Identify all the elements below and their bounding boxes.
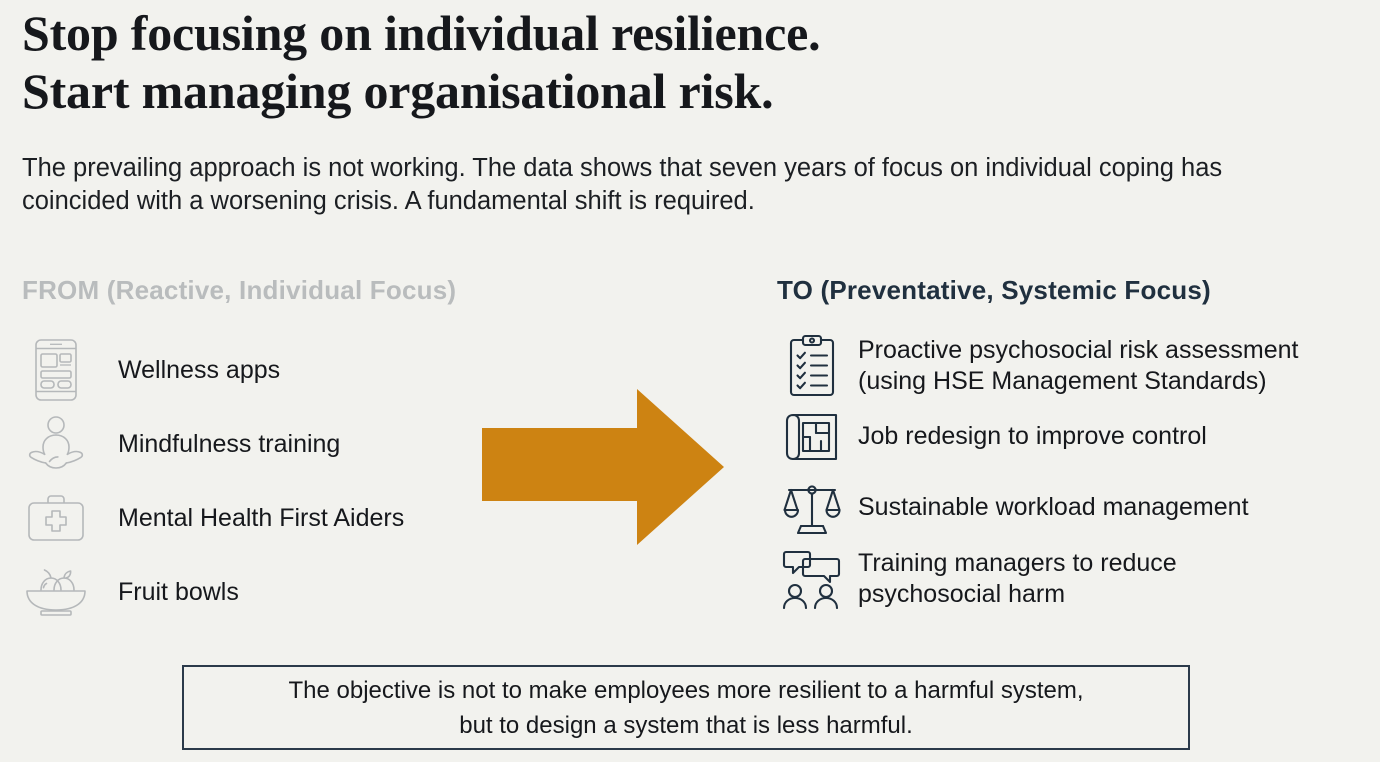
- fruit-bowl-icon: [14, 564, 98, 620]
- list-item: Mental Health First Aiders: [14, 481, 484, 555]
- list-item-label: Proactive psychosocial risk assessment (…: [856, 335, 1298, 397]
- meditation-lotus-pose-icon: [14, 416, 98, 472]
- list-item: Mindfulness training: [14, 407, 484, 481]
- list-item-label: Fruit bowls: [98, 577, 239, 608]
- page-subtitle: The prevailing approach is not working. …: [22, 152, 1302, 218]
- list-item-label: Sustainable workload management: [856, 492, 1249, 523]
- to-list: Proactive psychosocial risk assessment (…: [768, 330, 1380, 614]
- balance-scales-icon: [768, 481, 856, 535]
- objective-callout-line-2: but to design a system that is less harm…: [289, 708, 1084, 743]
- column-header-from: FROM (Reactive, Individual Focus): [22, 275, 456, 306]
- list-item: Proactive psychosocial risk assessment (…: [768, 330, 1380, 401]
- list-item: Wellness apps: [14, 333, 484, 407]
- list-item-label-line-1: Proactive psychosocial risk assessment: [858, 336, 1298, 364]
- page-title-line-1: Stop focusing on individual resilience.: [22, 5, 820, 61]
- mobile-phone-app-icon: [14, 339, 98, 401]
- clipboard-checklist-icon: [768, 334, 856, 398]
- list-item-label: Job redesign to improve control: [856, 421, 1207, 452]
- page-title: Stop focusing on individual resilience. …: [22, 4, 1202, 120]
- list-item-label-line-2: (using HSE Management Standards): [858, 367, 1267, 395]
- objective-callout-text: The objective is not to make employees m…: [273, 673, 1100, 743]
- page-subtitle-line-1: The prevailing approach is not working. …: [22, 154, 1092, 182]
- list-item: Job redesign to improve control: [768, 401, 1380, 472]
- objective-callout-line-1: The objective is not to make employees m…: [289, 673, 1084, 708]
- first-aid-kit-icon: [14, 493, 98, 543]
- page-title-line-2: Start managing organisational risk.: [22, 62, 1202, 120]
- list-item-label: Mental Health First Aiders: [98, 503, 404, 534]
- people-speech-bubbles-icon: [768, 549, 856, 609]
- right-arrow-icon: [482, 389, 724, 545]
- blueprint-floorplan-icon: [768, 411, 856, 463]
- slide-canvas: Stop focusing on individual resilience. …: [0, 0, 1380, 762]
- column-header-to: TO (Preventative, Systemic Focus): [777, 275, 1211, 306]
- list-item-label: Mindfulness training: [98, 429, 340, 460]
- list-item-label-line-2: psychosocial harm: [858, 580, 1065, 608]
- list-item-label-line-1: Training managers to reduce: [858, 549, 1177, 577]
- list-item-label: Wellness apps: [98, 355, 280, 386]
- list-item: Fruit bowls: [14, 555, 484, 629]
- objective-callout-box: The objective is not to make employees m…: [182, 665, 1190, 750]
- list-item: Training managers to reduce psychosocial…: [768, 543, 1380, 614]
- list-item-label: Training managers to reduce psychosocial…: [856, 548, 1177, 610]
- list-item: Sustainable workload management: [768, 472, 1380, 543]
- from-list: Wellness apps Mindfulness training: [14, 333, 484, 629]
